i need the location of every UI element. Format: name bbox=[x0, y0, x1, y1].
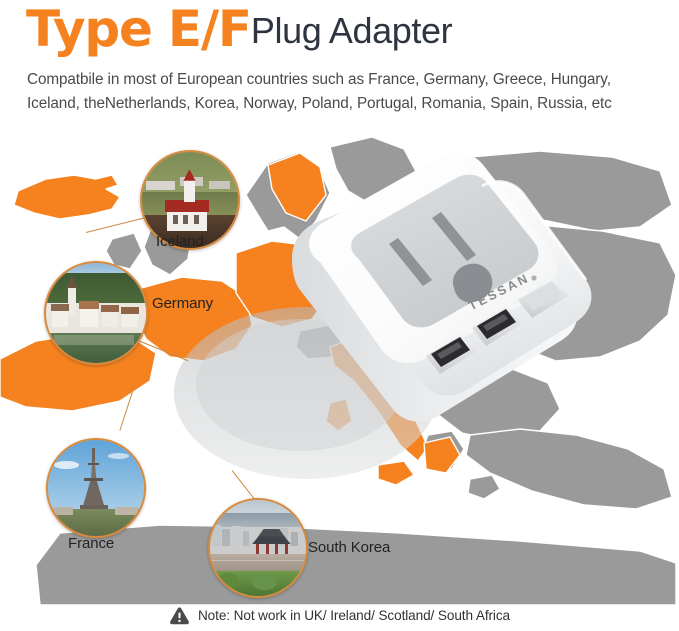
callout-label-iceland: Iceland bbox=[156, 233, 204, 250]
compatibility-note: Note: Not work in UK/ Ireland/ Scotland/… bbox=[0, 600, 679, 631]
header: Type E/FPlug Adapter Compatbile in most … bbox=[0, 0, 679, 136]
callout-label-south-korea: South Korea bbox=[308, 539, 390, 556]
plug-adapter-product-image: TESSAN bbox=[286, 148, 596, 508]
south-korea-fortress-photo bbox=[208, 498, 308, 598]
title-rest: Plug Adapter bbox=[251, 10, 452, 51]
description-text: Compatbile in most of European countries… bbox=[27, 68, 657, 115]
page-title: Type E/FPlug Adapter bbox=[26, 4, 452, 59]
callout-label-france: France bbox=[68, 535, 114, 552]
france-eiffel-tower-photo bbox=[46, 438, 146, 538]
warning-triangle-icon bbox=[169, 606, 190, 625]
product-marketing-image: Type E/FPlug Adapter Compatbile in most … bbox=[0, 0, 679, 631]
germany-village-photo bbox=[44, 261, 148, 365]
note-text: Note: Not work in UK/ Ireland/ Scotland/… bbox=[198, 608, 510, 623]
title-highlight: Type E/F bbox=[26, 0, 251, 58]
callout-label-germany: Germany bbox=[152, 295, 213, 312]
